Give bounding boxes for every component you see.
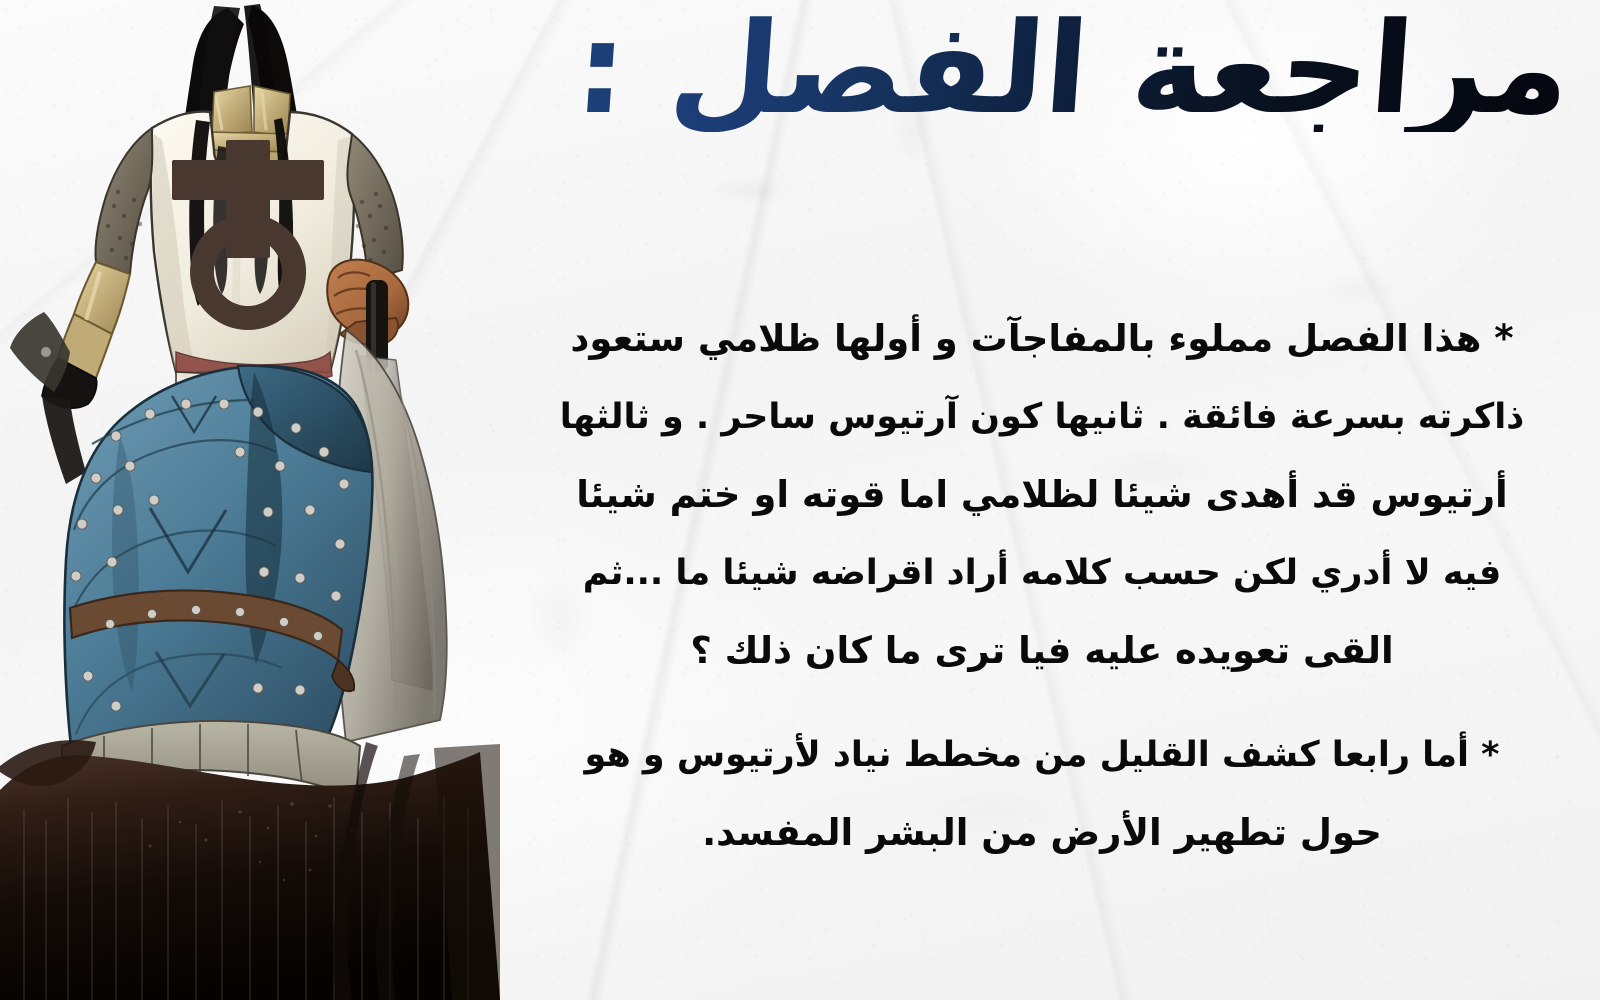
paragraph-1: * هذا الفصل مملوء بالمفاجآت و أولها ظلام…: [502, 300, 1582, 690]
paragraph-1-line-5: القى تعويده عليه فيا ترى ما كان ذلك ؟: [502, 612, 1582, 690]
chapter-review-text: * هذا الفصل مملوء بالمفاجآت و أولها ظلام…: [502, 300, 1582, 872]
knight-illustration-svg: [0, 0, 500, 1000]
paragraph-1-line-4: فيه لا أدري لكن حسب كلامه أراد اقراضه شي…: [502, 534, 1582, 612]
paragraph-1-line-1: * هذا الفصل مملوء بالمفاجآت و أولها ظلام…: [502, 300, 1582, 378]
weapon-haft: [42, 396, 86, 484]
paragraph-1-line-2: ذاكرته بسرعة فائقة . ثانيها كون آرتيوس س…: [502, 378, 1582, 456]
chainmail-sleeve-left: [95, 128, 152, 274]
chainmail-sleeve-right: [347, 134, 402, 280]
paragraph-1-line-3: أرتيوس قد أهدى شيئا لظلامي اما قوته او خ…: [502, 456, 1582, 534]
page-title-container: مراجعة الفصل :: [510, 6, 1570, 132]
vambrace-left: [58, 262, 130, 378]
page-root: مراجعة الفصل : * هذا الفصل مملوء بالمفاج…: [0, 0, 1600, 1000]
paragraph-2: * أما رابعا كشف القليل من مخطط نياد لأرت…: [502, 716, 1582, 872]
paragraph-2-line-1: * أما رابعا كشف القليل من مخطط نياد لأرت…: [502, 716, 1582, 794]
paragraph-2-line-2: حول تطهير الأرض من البشر المفسد.: [502, 794, 1582, 872]
knight-illustration: [0, 0, 500, 1000]
page-title: مراجعة الفصل :: [572, 6, 1575, 132]
